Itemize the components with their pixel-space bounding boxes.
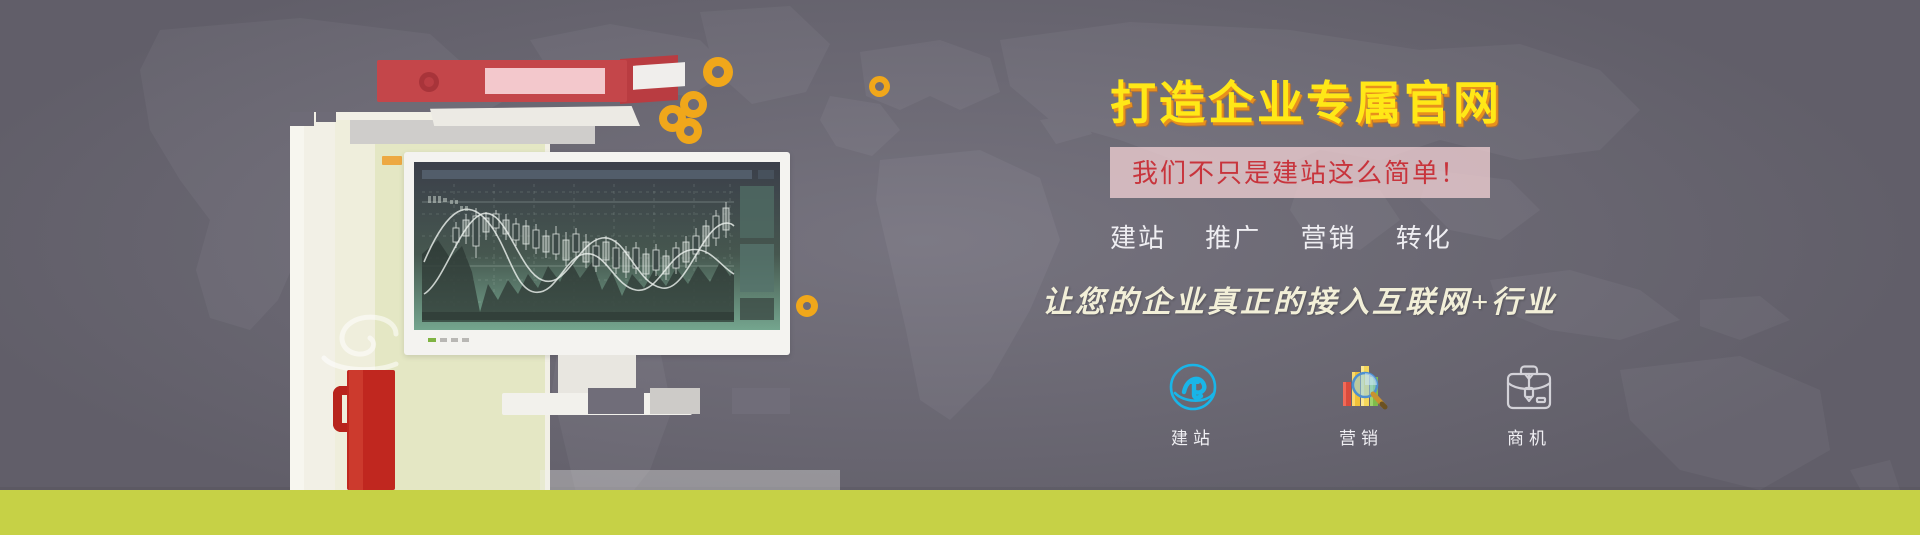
feature-item-marketing[interactable]: 营销 — [1313, 358, 1409, 449]
headline: 打造企业专属官网 — [1110, 78, 1730, 129]
keyword-item: 建站 — [1110, 223, 1166, 253]
power-led-icon — [428, 338, 436, 342]
steam-swirl-icon — [300, 282, 420, 382]
ground-strip — [0, 490, 1920, 535]
keyword-item: 推广 — [1205, 223, 1261, 253]
map-ring-icon — [676, 118, 702, 144]
folder-clip-icon — [382, 156, 402, 165]
monitor-button-icon — [451, 338, 458, 342]
feature-label: 建站 — [1145, 424, 1241, 449]
feature-item-opportunity[interactable]: 商机 — [1481, 358, 1577, 449]
binder-side-label — [633, 62, 685, 90]
coffee-mug — [333, 370, 395, 490]
feature-label: 商机 — [1481, 424, 1577, 449]
subtitle-badge: 我们不只是建站这么简单！ — [1110, 147, 1490, 198]
desk-surface — [540, 470, 840, 490]
map-ring-icon — [703, 57, 733, 87]
mug-highlight — [349, 370, 363, 490]
keyword-list: 建站 推广 营销 转化 — [1110, 218, 1730, 255]
map-ring-icon — [869, 76, 890, 97]
promo-copy: 打造企业专属官网 我们不只是建站这么简单！ 建站 推广 营销 转化 让您的企业真… — [1110, 78, 1730, 321]
promo-banner: 打造企业专属官网 我们不只是建站这么简单！ 建站 推广 营销 转化 让您的企业真… — [0, 0, 1920, 535]
monitor-button-icon — [462, 338, 469, 342]
desk-block — [732, 388, 790, 414]
desk-block — [588, 388, 644, 414]
binder-ring-icon — [419, 72, 439, 92]
chart-magnifier-icon — [1313, 358, 1409, 416]
keyword-item: 转化 — [1396, 223, 1452, 253]
folder-notch — [290, 112, 314, 126]
map-ring-icon — [796, 295, 818, 317]
map-ring-icon — [680, 91, 707, 118]
folder-notch-small — [316, 112, 336, 122]
feature-icon-row: 建站 营销 — [1145, 358, 1577, 449]
keyword-item: 营销 — [1301, 223, 1357, 253]
monitor-screen — [414, 162, 780, 330]
monitor-button-icon — [440, 338, 447, 342]
tagline: 让您的企业真正的接入互联网+行业 — [1042, 277, 1730, 321]
ie-browser-icon — [1145, 358, 1241, 416]
briefcase-icon — [1481, 358, 1577, 416]
feature-item-website[interactable]: 建站 — [1145, 358, 1241, 449]
binder-label — [485, 68, 605, 94]
red-binder — [377, 60, 637, 104]
document-stack-loose — [430, 106, 640, 126]
feature-label: 营销 — [1313, 424, 1409, 449]
desk-block — [650, 388, 700, 414]
